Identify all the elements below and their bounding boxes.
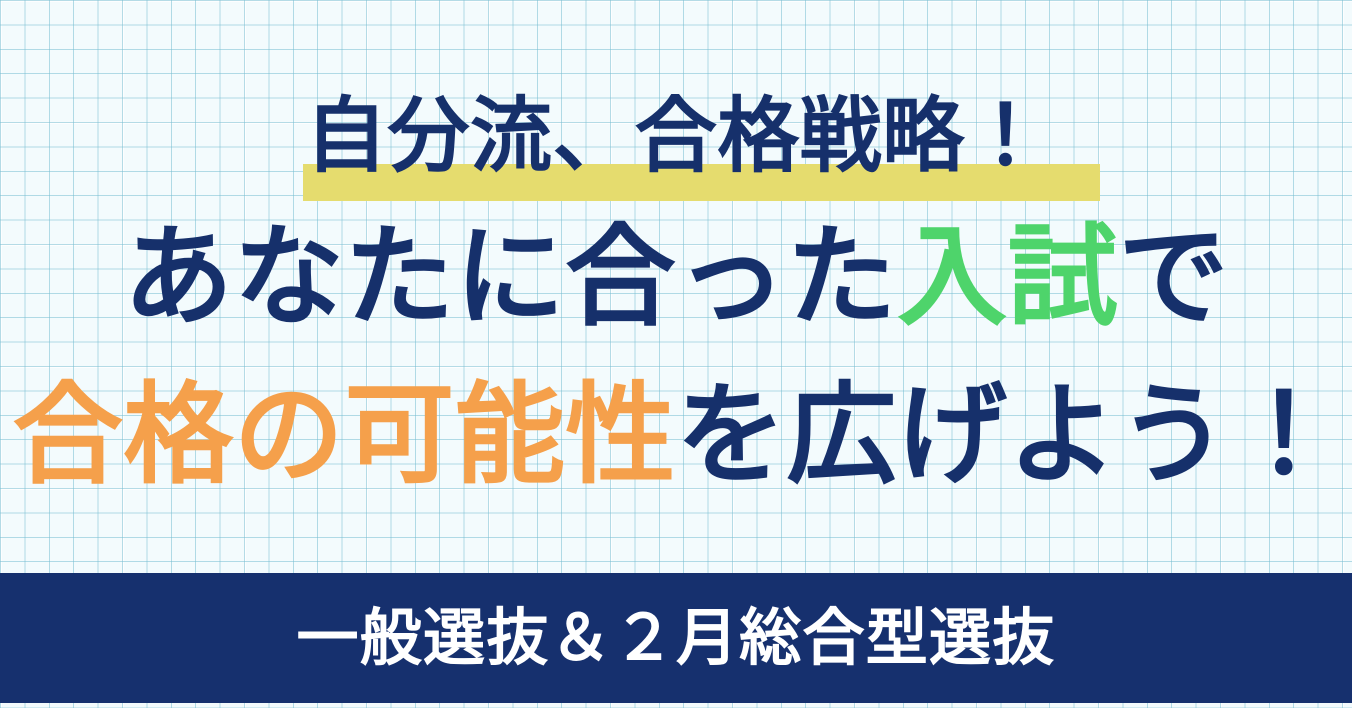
headline-line-1: 自分流、合格戦略！ [0, 96, 1352, 178]
headline-line-3-segment-1-highlight: 合格の可能性 [13, 371, 676, 499]
headline-line-2-segment-3: で [1118, 213, 1229, 341]
headline-line-2: あなたに合った入試で [0, 222, 1352, 332]
headline-line-1-text: 自分流、合格戦略！ [305, 89, 1047, 184]
footer-navy-band: 一般選抜＆２月総合型選抜 [0, 573, 1352, 703]
promo-banner: 自分流、合格戦略！ あなたに合った入試で 合格の可能性を広げよう！ 一般選抜＆２… [0, 0, 1352, 708]
headline-line-2-segment-1: あなたに合った [123, 213, 897, 341]
headline-line-3: 合格の可能性を広げよう！ [0, 380, 1352, 490]
headline-line-3-segment-2: を広げよう！ [676, 371, 1339, 499]
footer-band-text: 一般選抜＆２月総合型選抜 [297, 607, 1056, 669]
headline-line-2-segment-2-highlight: 入試 [897, 213, 1118, 341]
